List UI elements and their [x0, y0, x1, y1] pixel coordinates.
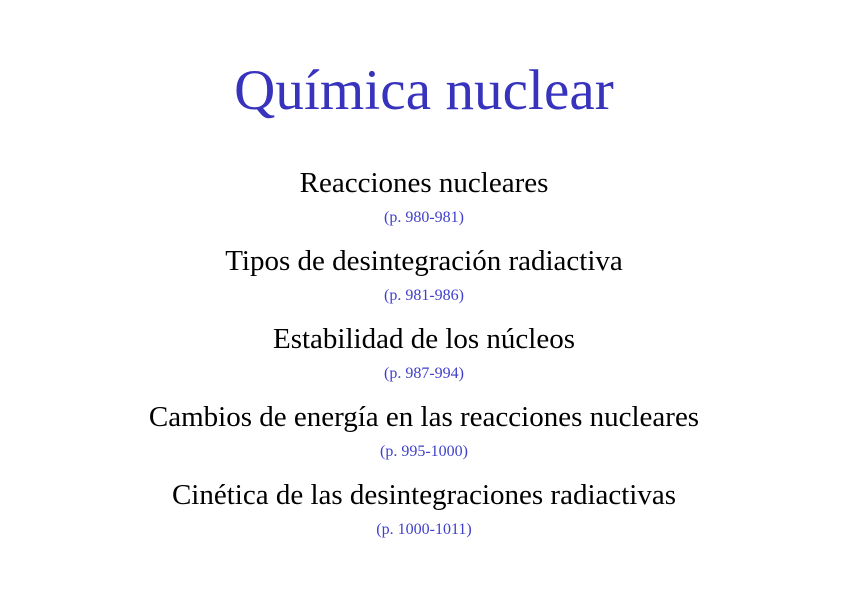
topic-item: Cambios de energía en las reacciones nuc…: [0, 382, 848, 460]
topic-item: Tipos de desintegración radiactiva (p. 9…: [0, 226, 848, 304]
topic-page-reference: (p. 987-994): [0, 354, 848, 382]
topic-page-reference: (p. 995-1000): [0, 432, 848, 460]
topic-item: Estabilidad de los núcleos (p. 987-994): [0, 304, 848, 382]
topic-page-reference: (p. 981-986): [0, 276, 848, 304]
topic-heading: Cambios de energía en las reacciones nuc…: [0, 382, 848, 432]
topic-item: Cinética de las desintegraciones radiact…: [0, 460, 848, 538]
topic-page-reference: (p. 1000-1011): [0, 510, 848, 538]
topic-heading: Estabilidad de los núcleos: [0, 304, 848, 354]
slide-content: Química nuclear Reacciones nucleares (p.…: [0, 0, 848, 538]
topic-page-reference: (p. 980-981): [0, 198, 848, 226]
topic-outline-list: Reacciones nucleares (p. 980-981) Tipos …: [0, 119, 848, 538]
presentation-slide: Química nuclear Reacciones nucleares (p.…: [0, 0, 848, 599]
topic-item: Reacciones nucleares (p. 980-981): [0, 119, 848, 226]
topic-heading: Reacciones nucleares: [0, 119, 848, 198]
slide-title: Química nuclear: [0, 0, 848, 119]
topic-heading: Tipos de desintegración radiactiva: [0, 226, 848, 276]
topic-heading: Cinética de las desintegraciones radiact…: [0, 460, 848, 510]
